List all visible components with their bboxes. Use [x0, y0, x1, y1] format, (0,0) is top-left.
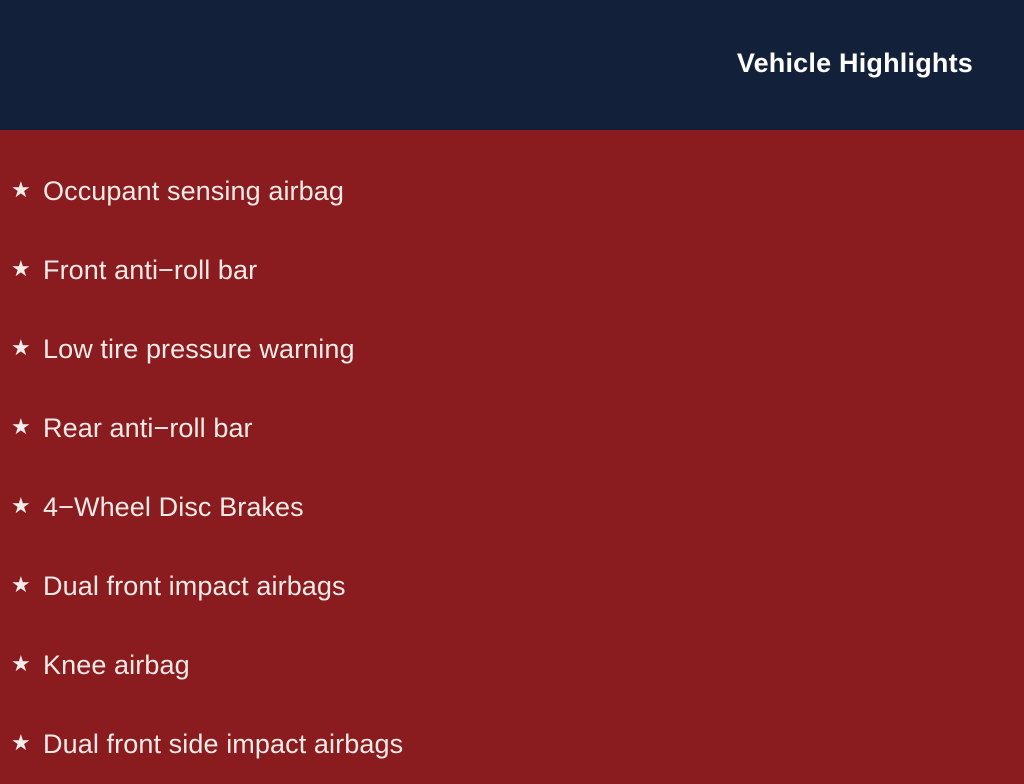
star-bullet-icon: ★ — [11, 338, 43, 360]
list-item-label: Dual front impact airbags — [43, 572, 346, 602]
slide-header-band: Vehicle Highlights — [0, 0, 1024, 130]
star-bullet-icon: ★ — [11, 259, 43, 281]
star-bullet-icon: ★ — [11, 496, 43, 518]
star-bullet-icon: ★ — [11, 575, 43, 597]
list-item: ★ 4−Wheel Disc Brakes — [0, 468, 1024, 547]
list-item-label: Occupant sensing airbag — [43, 177, 344, 207]
list-item-label: Knee airbag — [43, 651, 190, 681]
list-item-label: Dual front side impact airbags — [43, 730, 403, 760]
list-item-label: 4−Wheel Disc Brakes — [43, 493, 304, 523]
star-bullet-icon: ★ — [11, 733, 43, 755]
list-item-label: Rear anti−roll bar — [43, 414, 253, 444]
list-item: ★ Low tire pressure warning — [0, 310, 1024, 389]
star-bullet-icon: ★ — [11, 417, 43, 439]
list-item: ★ Dual front impact airbags — [0, 547, 1024, 626]
list-item: ★ Dual front side impact airbags — [0, 705, 1024, 784]
slide-canvas: Vehicle Highlights ★ Occupant sensing ai… — [0, 0, 1024, 768]
slide-body: ★ Occupant sensing airbag ★ Front anti−r… — [0, 130, 1024, 768]
list-item: ★ Rear anti−roll bar — [0, 389, 1024, 468]
list-item-label: Front anti−roll bar — [43, 256, 257, 286]
star-bullet-icon: ★ — [11, 180, 43, 202]
star-bullet-icon: ★ — [11, 654, 43, 676]
list-item: ★ Front anti−roll bar — [0, 231, 1024, 310]
vehicle-highlights-list: ★ Occupant sensing airbag ★ Front anti−r… — [0, 152, 1024, 784]
list-item: ★ Knee airbag — [0, 626, 1024, 705]
page-title: Vehicle Highlights — [737, 50, 973, 77]
list-item: ★ Occupant sensing airbag — [0, 152, 1024, 231]
list-item-label: Low tire pressure warning — [43, 335, 355, 365]
